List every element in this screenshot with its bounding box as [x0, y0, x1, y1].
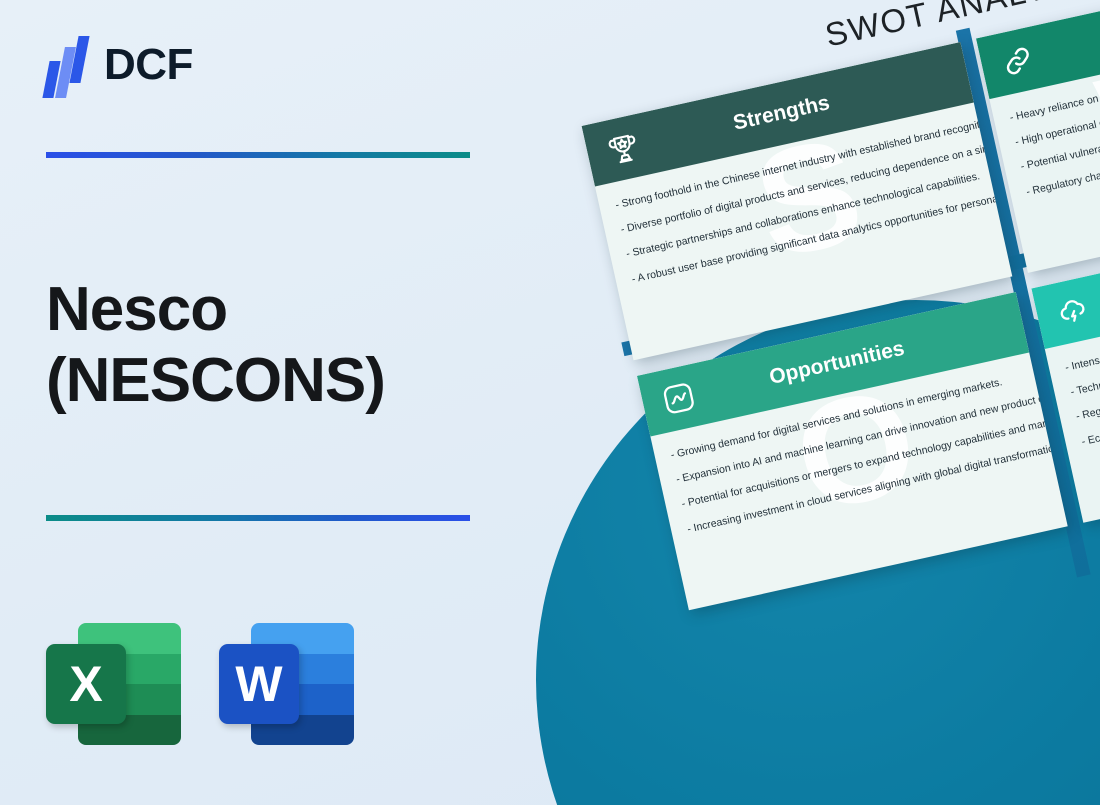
- excel-icon-front: X: [46, 644, 126, 724]
- swot-quadrant-grid: Strengths S Strong foothold in the Chine…: [582, 0, 1100, 610]
- word-icon-letter: W: [235, 659, 282, 709]
- left-column: DCF Nesco (NESCONS) X: [0, 0, 540, 805]
- word-icon-front: W: [219, 644, 299, 724]
- page-title: Nesco (NESCONS): [46, 275, 385, 416]
- weaknesses-title: Weaknesses: [1033, 0, 1100, 69]
- divider-bottom: [46, 515, 470, 521]
- dcf-bars-logo-icon: [44, 36, 90, 98]
- excel-icon[interactable]: X: [46, 623, 181, 745]
- company-ticker: (NESCONS): [46, 346, 385, 417]
- dcf-logo[interactable]: DCF: [44, 36, 193, 98]
- divider-top: [46, 152, 470, 158]
- company-name: Nesco: [46, 275, 227, 344]
- excel-icon-letter: X: [69, 659, 102, 709]
- swot-analysis-page: DCF Nesco (NESCONS) X: [0, 0, 1100, 805]
- file-format-icons: X W: [46, 623, 354, 745]
- word-icon[interactable]: W: [219, 623, 354, 745]
- logo-wordmark: DCF: [104, 43, 193, 91]
